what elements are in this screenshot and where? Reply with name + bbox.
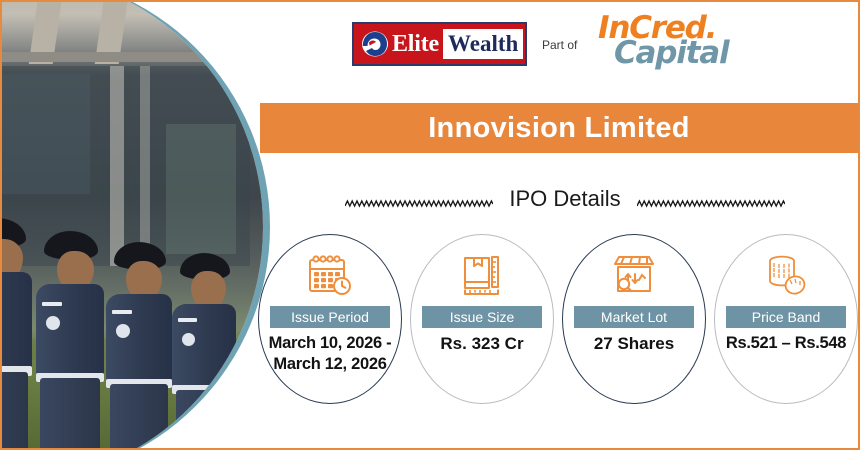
card-issue-size: Issue Size Rs. 323 Cr [406, 234, 558, 412]
card-label-issue-size: Issue Size [422, 306, 542, 328]
card-value-price-band: Rs.521 – Rs.548 [708, 333, 860, 354]
security-guards-lineup-photo [2, 2, 263, 450]
calendar-clock-icon [254, 250, 406, 300]
card-issue-period: Issue Period March 10, 2026 - March 12, … [254, 234, 406, 412]
market-stall-chart-icon [558, 250, 710, 300]
photo-circular-mask [2, 2, 270, 450]
elite-e-icon [360, 29, 390, 59]
page-title: Innovision Limited [428, 112, 690, 145]
company-title-banner: Innovision Limited [260, 103, 858, 153]
wealth-wordmark: Wealth [443, 29, 523, 59]
card-market-lot: Market Lot 27 Shares [558, 234, 710, 412]
card-value-market-lot: 27 Shares [556, 333, 712, 354]
ipo-details-poster: Elite Wealth Part of InCred. Capital Inn… [0, 0, 860, 450]
zigzag-divider-right-icon [637, 195, 785, 204]
incred-capital-logo: InCred. Capital [592, 16, 772, 67]
issue-period-line-1: March 10, 2026 - March 12, 2026 [269, 334, 392, 373]
section-heading: IPO Details [270, 182, 860, 216]
ipo-detail-cards: Issue Period March 10, 2026 - March 12, … [254, 234, 860, 412]
card-value-issue-period: March 10, 2026 - March 12, 2026 [252, 333, 408, 374]
elite-wealth-logo: Elite Wealth [352, 22, 527, 66]
card-price-band: Price Band Rs.521 – Rs.548 [710, 234, 860, 412]
elite-wordmark: Elite [392, 32, 439, 56]
card-label-market-lot: Market Lot [574, 306, 694, 328]
coin-stack-icon [710, 250, 860, 300]
box-ruler-icon [406, 250, 558, 300]
card-value-issue-size: Rs. 323 Cr [404, 333, 560, 354]
photo-panel [2, 2, 270, 450]
part-of-label: Part of [542, 38, 577, 52]
header-logos: Elite Wealth Part of InCred. Capital [270, 2, 858, 94]
zigzag-divider-left-icon [345, 195, 493, 204]
capital-wordmark: Capital [614, 41, 772, 66]
card-label-issue-period: Issue Period [270, 306, 390, 328]
card-label-price-band: Price Band [726, 306, 846, 328]
section-heading-label: IPO Details [509, 186, 620, 212]
